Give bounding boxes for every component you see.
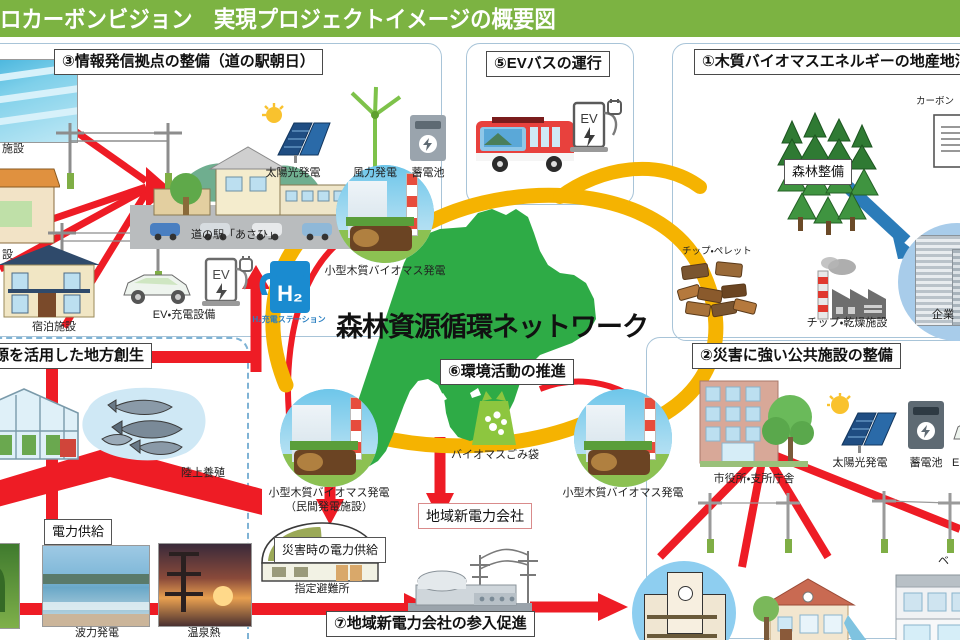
wave-power-label: 波力発電 [52, 627, 142, 640]
svg-text:EV: EV [580, 111, 598, 126]
disaster-power-supply-label: 災害時の電力供給 [274, 537, 386, 563]
public-facility-illustration [890, 571, 960, 640]
wind-label-p3: 風力発電 [342, 167, 408, 180]
red-arrowhead-to-schools [598, 593, 628, 621]
solar-panel-icon-p2 [824, 393, 898, 455]
forest-maintenance-label: 森林整備 [784, 159, 852, 185]
solar-label-p3: 太陽光発電 [258, 167, 328, 180]
facility-label-cut-2: 設 [2, 249, 13, 262]
utility-poles-p2 [690, 487, 960, 573]
ev-bus-illustration [472, 111, 582, 177]
panel-3-caption: ③情報発信拠点の整備（道の駅朝日） [54, 49, 323, 75]
biomass-right-label: 小型木質バイオマス発電 [548, 487, 698, 500]
battery-label-p3: 蓄電池 [400, 167, 456, 180]
geothermal-photo [158, 543, 252, 627]
biomass-mid-label-2: （民間発電施設） [254, 501, 404, 514]
center-network-title: 森林資源循環ネットワーク [336, 305, 648, 344]
battery-icon-p2 [902, 397, 950, 455]
ev-charger-icon: EV [198, 255, 260, 311]
geothermal-label-1: 温泉熱 [160, 627, 248, 640]
certificate-document-icon [932, 113, 960, 169]
lodging-illustration [0, 243, 104, 321]
biomass-circle-mid [280, 389, 378, 487]
forest-photo-tile [0, 543, 20, 629]
panel-2-caption: ②災害に強い公共施設の整備 [692, 343, 901, 369]
header-bar: ロカーボンビジョン 実現プロジェクトイメージの概要図 [0, 0, 960, 37]
ev-car-icon-p2 [950, 409, 960, 451]
biomass-garbage-bag-icon [466, 389, 522, 451]
shelter-label: 指定避難所 [272, 583, 372, 596]
ev-charging-label: EV・充電設備 [126, 309, 242, 322]
nursery-illustration [752, 569, 882, 640]
biomass-circle-right [574, 389, 672, 487]
aquaculture-label: 陸上養殖 [166, 467, 240, 480]
panel2-cut-label-right: ベ [938, 555, 949, 568]
wood-chips-illustration [672, 259, 776, 331]
aquaculture-fish-illustration [78, 385, 216, 471]
chip-drying-label: チップ・乾燥施設 [782, 317, 912, 330]
city-hall-illustration [692, 377, 816, 473]
company-label: 企業 [932, 309, 954, 322]
wave-power-photo [42, 545, 150, 627]
ev-label-p2: E [952, 457, 959, 470]
lodging-label: 宿泊施設 [8, 321, 100, 334]
new-power-company-label: 地域新電力会社 [418, 503, 532, 529]
facility-label-cut-1: 施設 [2, 143, 24, 156]
diagram-canvas: ③情報発信拠点の整備（道の駅朝日） 施設 設 [0, 37, 960, 640]
svg-text:H₂: H₂ [277, 281, 303, 306]
svg-text:EV: EV [212, 267, 230, 282]
chip-pellet-label: チップ・ペレット [682, 245, 752, 258]
h2-station-label: H₂充電ステーション [248, 313, 330, 326]
carbon-credit-label: カーボン [916, 95, 954, 108]
panel-1-caption: ①木質バイオマスエネルギーの地産地消 [694, 49, 960, 75]
battery-icon-p3 [404, 111, 452, 167]
biomass-left-label: 小型木質バイオマス発電 [310, 265, 460, 278]
biomass-mid-label-1: 小型木質バイオマス発電 [254, 487, 404, 500]
ev-bus-charger-icon: EV [568, 99, 628, 161]
page-title: ロカーボンビジョン 実現プロジェクトイメージの概要図 [0, 3, 893, 35]
panel-4-caption: ネ資源を活用した地方創生 [0, 343, 152, 369]
ev-car-icon [118, 263, 196, 307]
solar-label-p2: 太陽光発電 [822, 457, 898, 470]
panel-6-caption: ⑥環境活動の推進 [440, 359, 574, 385]
michinoeki-label: 道の駅「あさひ」 [170, 229, 300, 242]
biomass-bag-label: バイオマスごみ袋 [430, 449, 560, 462]
power-supply-label: 電力供給 [44, 519, 112, 545]
city-hall-label: 市役所・支所庁舎 [690, 473, 818, 486]
panel-7-caption: ⑦地域新電力会社の参入促進 [326, 611, 535, 637]
battery-label-p2: 蓄電池 [898, 457, 954, 470]
greenhouse-illustration [0, 385, 84, 467]
panel-5-caption: ⑤EVバスの運行 [486, 51, 610, 77]
